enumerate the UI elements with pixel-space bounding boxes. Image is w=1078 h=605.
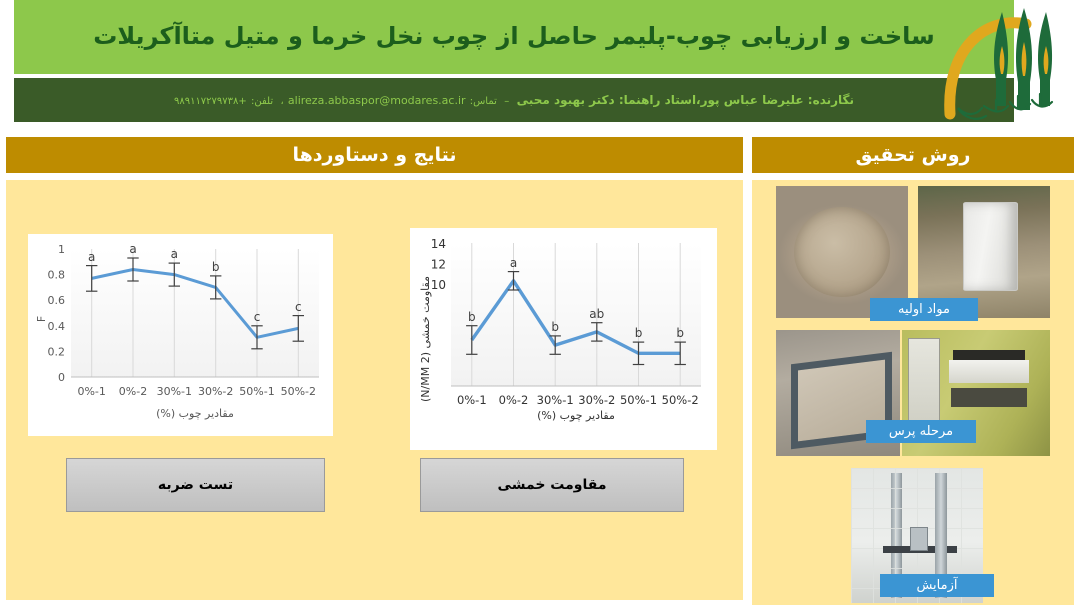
- svg-text:0%-2: 0%-2: [119, 385, 147, 398]
- svg-text:c: c: [295, 300, 302, 314]
- author-label: نگارنده: علیرضا عباس پور،استاد راهنما: د…: [517, 93, 854, 107]
- svg-text:a: a: [171, 247, 178, 261]
- svg-text:b: b: [468, 310, 476, 324]
- svg-text:a: a: [88, 250, 95, 264]
- svg-text:0: 0: [58, 371, 65, 384]
- caption-raw-materials-label: مواد اولیه: [898, 302, 950, 317]
- svg-text:مقاومت خمشی (N/MM 2): مقاومت خمشی (N/MM 2): [419, 276, 432, 402]
- caption-press-stage: مرحله پرس: [866, 420, 976, 443]
- svg-text:30%-1: 30%-1: [157, 385, 192, 398]
- section-header-results: نتایج و دستاوردها: [6, 137, 743, 173]
- caption-raw-materials: مواد اولیه: [870, 298, 978, 321]
- impact-test-chart: 1 0.8 0.6 0.4 0.2 0 F: [28, 234, 333, 436]
- svg-text:0%-1: 0%-1: [457, 393, 487, 407]
- svg-text:30%-1: 30%-1: [537, 393, 574, 407]
- impact-chart-svg: 1 0.8 0.6 0.4 0.2 0 F: [29, 235, 332, 435]
- svg-text:0.8: 0.8: [48, 269, 66, 282]
- svg-text:b: b: [212, 260, 220, 274]
- svg-text:b: b: [635, 326, 643, 340]
- svg-text:14: 14: [431, 237, 446, 251]
- phone-number: +۹۸۹۱۱۷۲۷۹۷۳۸: [174, 96, 247, 107]
- svg-text:10: 10: [431, 278, 446, 292]
- caption-testing-label: آزمایش: [916, 578, 957, 593]
- svg-text:b: b: [551, 320, 559, 334]
- svg-text:50%-2: 50%-2: [281, 385, 316, 398]
- svg-text:0.2: 0.2: [48, 345, 66, 358]
- svg-text:F: F: [35, 316, 48, 322]
- impact-test-button[interactable]: تست ضربه: [66, 458, 325, 512]
- email-text[interactable]: alireza.abbaspor@modares.ac.ir: [288, 94, 466, 107]
- svg-text:a: a: [510, 256, 517, 270]
- svg-text:b: b: [676, 326, 684, 340]
- svg-text:0%-1: 0%-1: [77, 385, 105, 398]
- svg-text:0.4: 0.4: [48, 320, 66, 333]
- svg-text:30%-2: 30%-2: [198, 385, 233, 398]
- svg-text:a: a: [129, 242, 136, 256]
- svg-text:0%-2: 0%-2: [499, 393, 529, 407]
- poster-root: ساخت و ارزیابی چوب-پلیمر حاصل از چوب نخل…: [0, 0, 1078, 605]
- svg-text:0.6: 0.6: [48, 294, 66, 307]
- svg-text:30%-2: 30%-2: [578, 393, 615, 407]
- svg-text:12: 12: [431, 257, 446, 271]
- author-band: نگارنده: علیرضا عباس پور،استاد راهنما: د…: [14, 78, 1014, 122]
- title-band: ساخت و ارزیابی چوب-پلیمر حاصل از چوب نخل…: [14, 0, 1014, 74]
- flexural-strength-button-label: مقاومت خمشی: [498, 477, 607, 493]
- section-header-results-label: نتایج و دستاوردها: [292, 144, 456, 166]
- section-header-method-label: روش تحقیق: [856, 144, 971, 166]
- caption-testing: آزمایش: [880, 574, 994, 597]
- flexural-strength-chart: 14 12 10 مقاومت خمشی (N/MM 2): [410, 228, 717, 450]
- svg-text:مقادیر چوب (%): مقادیر چوب (%): [156, 407, 234, 420]
- flexural-strength-button[interactable]: مقاومت خمشی: [420, 458, 684, 512]
- svg-text:مقادیر چوب (%): مقادیر چوب (%): [537, 409, 615, 422]
- caption-press-stage-label: مرحله پرس: [889, 424, 953, 439]
- svg-text:50%-1: 50%-1: [239, 385, 274, 398]
- svg-text:50%-2: 50%-2: [662, 393, 699, 407]
- phone-label: تلفن:: [251, 96, 273, 107]
- flexural-chart-svg: 14 12 10 مقاومت خمشی (N/MM 2): [411, 229, 716, 449]
- page-title: ساخت و ارزیابی چوب-پلیمر حاصل از چوب نخل…: [14, 4, 1014, 68]
- svg-text:c: c: [254, 310, 261, 324]
- svg-text:50%-1: 50%-1: [620, 393, 657, 407]
- impact-test-button-label: تست ضربه: [158, 477, 233, 493]
- author-contact-line: نگارنده: علیرضا عباس پور،استاد راهنما: د…: [14, 78, 1014, 122]
- svg-text:ab: ab: [589, 307, 604, 321]
- svg-text:1: 1: [58, 243, 65, 256]
- contact-label: تماس:: [470, 96, 497, 107]
- section-header-method: روش تحقیق: [752, 137, 1074, 173]
- university-logo-icon: [940, 2, 1072, 126]
